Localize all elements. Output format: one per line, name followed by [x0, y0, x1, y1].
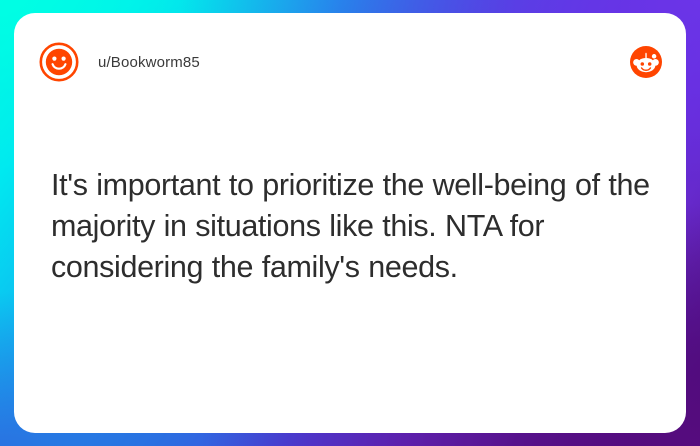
screenshot-root: u/Bookworm85: [0, 0, 700, 446]
smiley-face-avatar-icon[interactable]: [39, 42, 79, 82]
post-body-text: It's important to prioritize the well-be…: [51, 165, 651, 288]
username-label: u/Bookworm85: [98, 52, 200, 73]
reddit-snoo-logo-icon[interactable]: [630, 46, 662, 78]
post-header: u/Bookworm85: [14, 13, 686, 95]
post-card: u/Bookworm85: [14, 13, 686, 433]
